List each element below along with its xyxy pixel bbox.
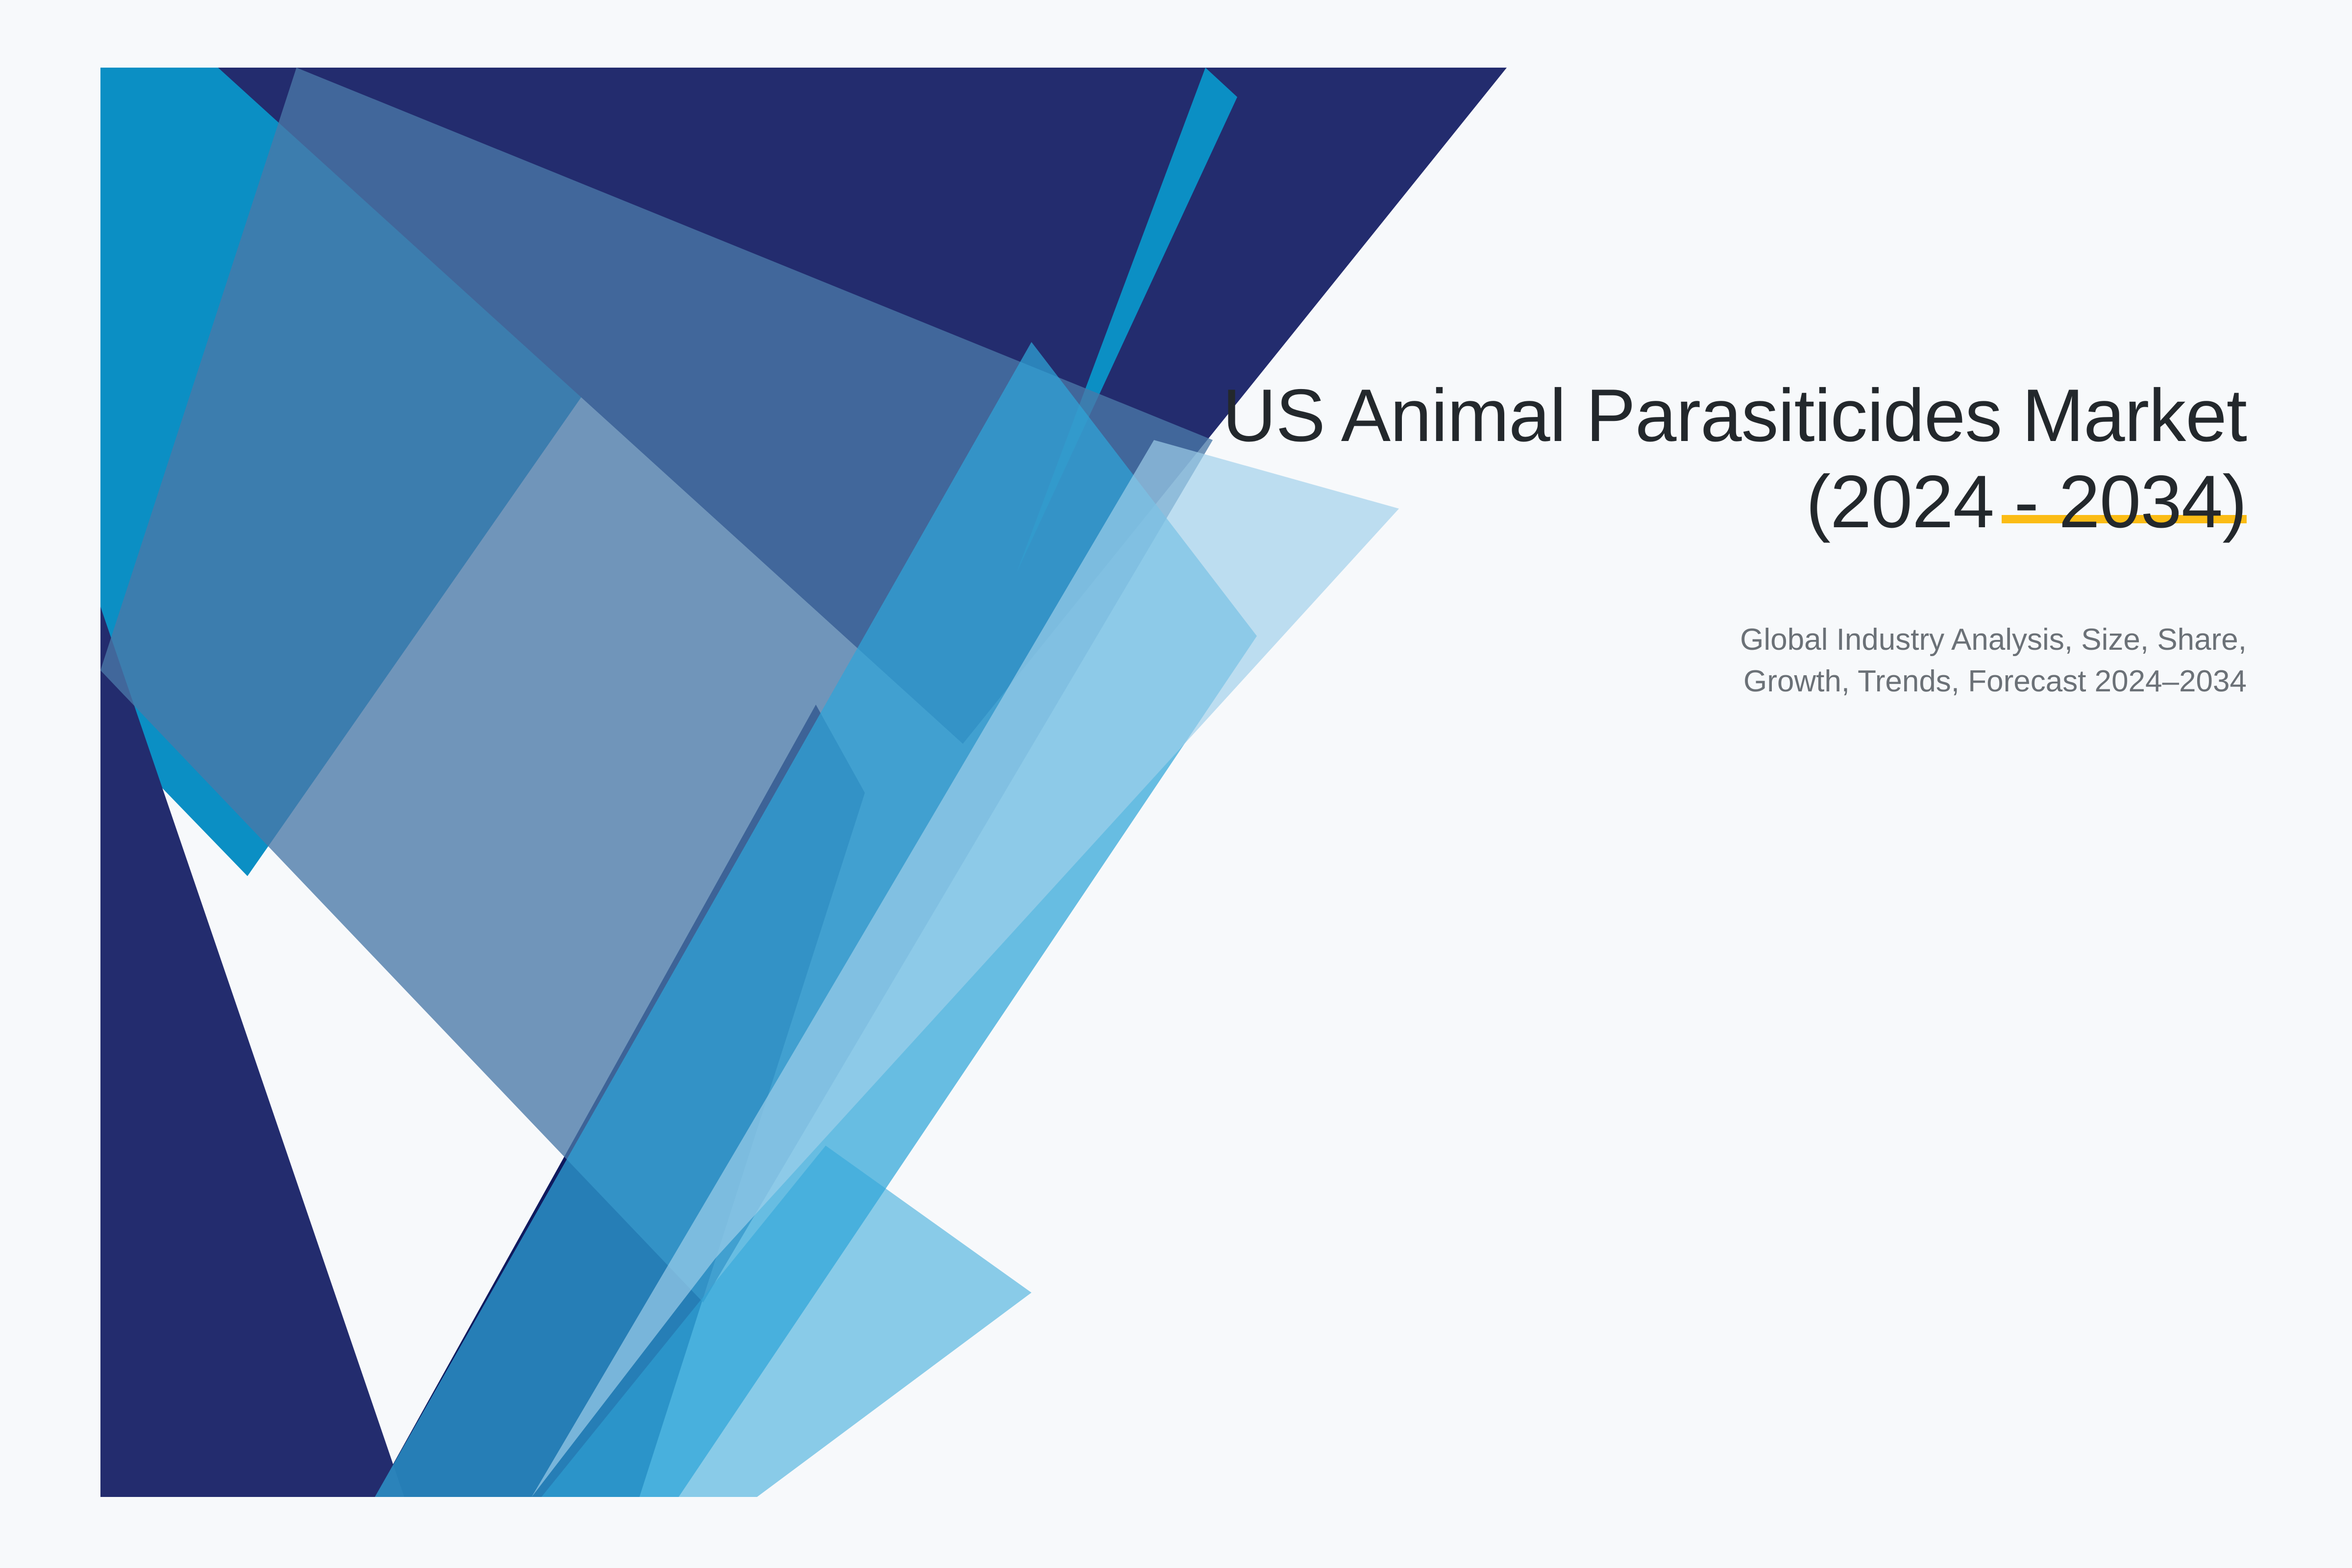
cover-page: US Animal Parasiticides Market (2024 - 2… — [0, 0, 2352, 1568]
page-subtitle: Global Industry Analysis, Size, Share, G… — [1071, 619, 2247, 703]
page-title: US Animal Parasiticides Market (2024 - 2… — [1071, 372, 2247, 545]
abstract-geometric-graphic — [100, 68, 1507, 1497]
cover-text-block: US Animal Parasiticides Market (2024 - 2… — [1071, 372, 2247, 703]
artwork-svg — [100, 68, 1507, 1497]
